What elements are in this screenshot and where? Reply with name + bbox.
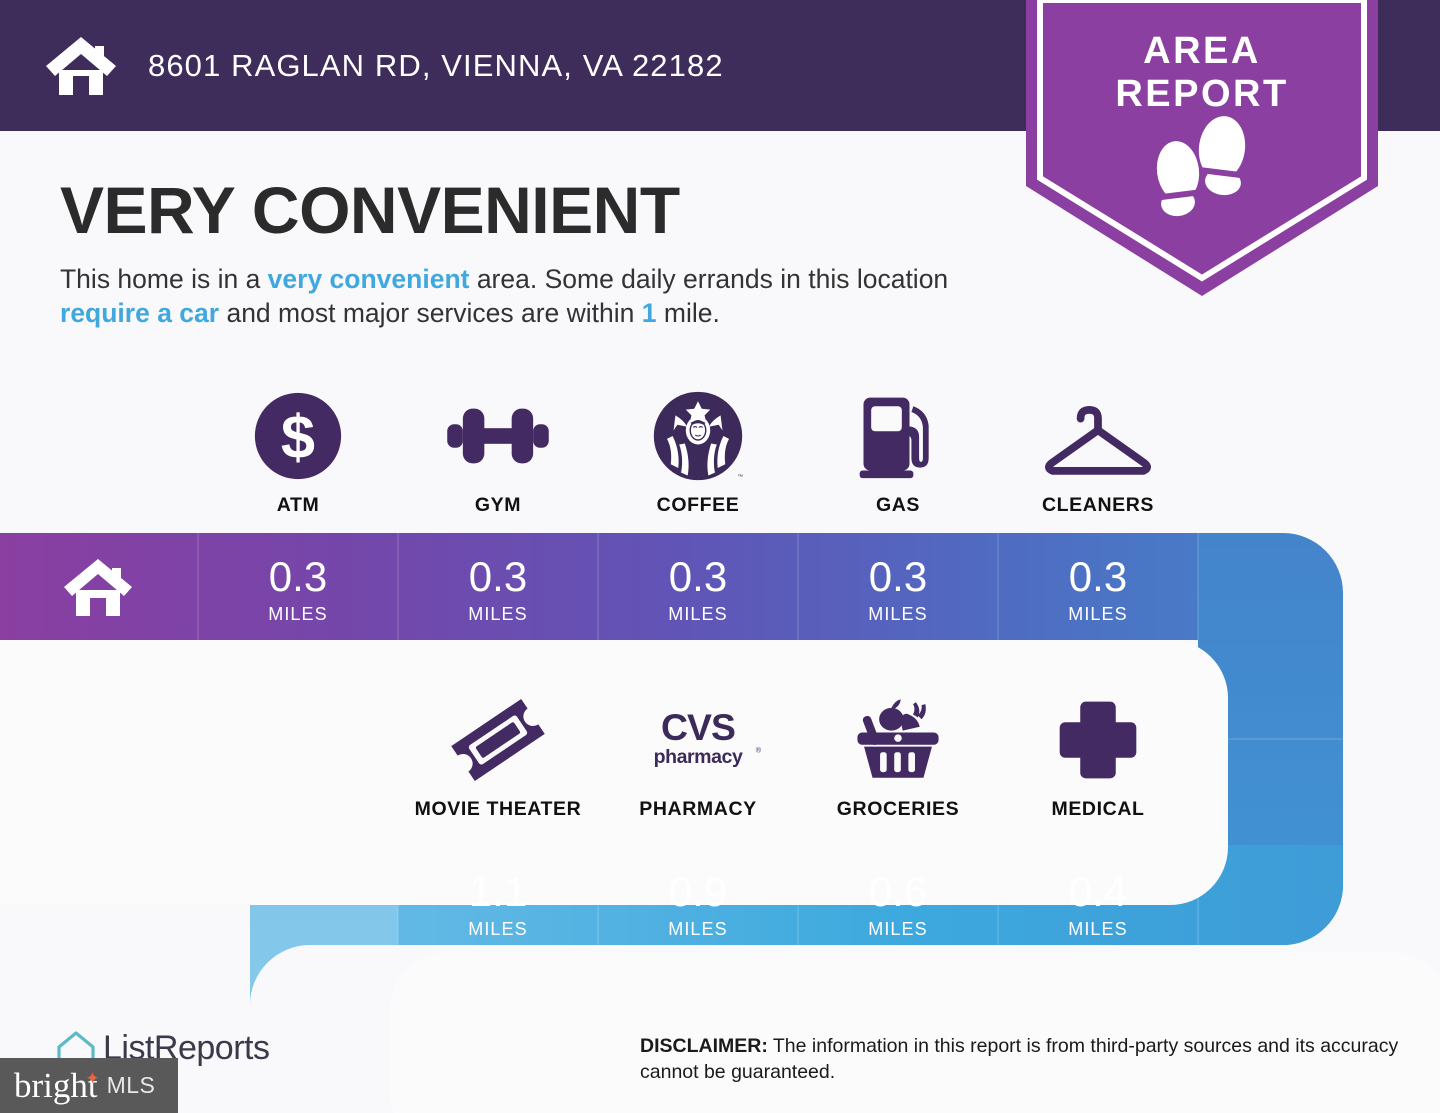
distance-atm: 0.3 MILES (198, 540, 398, 640)
description-text: This home is in a very convenient area. … (60, 263, 1020, 330)
medical-cross-icon (1055, 692, 1141, 788)
svg-text:™: ™ (737, 474, 743, 480)
movie-ticket-icon (448, 692, 548, 788)
category-label: GROCERIES (837, 798, 959, 821)
distance-row-primary: 0.3 MILES 0.3 MILES 0.3 MILES 0.3 MILES … (198, 540, 1198, 640)
clothes-hanger-icon (1038, 388, 1158, 484)
description-fragment: This home is in a (60, 264, 268, 294)
bright-wordmark: bright ✦ (14, 1068, 98, 1103)
grocery-basket-icon (848, 692, 948, 788)
distance-value: 0.9 (669, 871, 727, 913)
svg-text:CVS: CVS (661, 708, 735, 748)
description-highlight: require a car (60, 298, 219, 328)
category-movie-theater[interactable]: MOVIE THEATER (398, 692, 598, 821)
distance-coffee: 0.3 MILES (598, 540, 798, 640)
category-medical[interactable]: MEDICAL (998, 692, 1198, 821)
distance-value: 0.3 (1069, 556, 1127, 598)
category-label: MEDICAL (1051, 798, 1144, 821)
distance-value: 0.3 (469, 556, 527, 598)
dollar-circle-icon: $ (252, 388, 344, 484)
distance-unit: MILES (668, 919, 728, 940)
page-title: VERY CONVENIENT (60, 172, 680, 248)
category-atm[interactable]: $ ATM (198, 388, 398, 517)
distance-pharmacy: 0.9 MILES (598, 855, 798, 955)
distance-value: 0.3 (269, 556, 327, 598)
description-highlight: very convenient (268, 264, 470, 294)
category-label: GAS (876, 494, 920, 517)
description-fragment: area. Some daily errands in this locatio… (469, 264, 948, 294)
distance-movie-theater: 1.1 MILES (398, 855, 598, 955)
property-address: 8601 RAGLAN RD, VIENNA, VA 22182 (148, 48, 724, 84)
area-report-badge: AREA REPORT (1026, 0, 1378, 296)
mls-text: MLS (107, 1072, 156, 1099)
svg-text:®: ® (756, 746, 762, 754)
distance-unit: MILES (868, 604, 928, 625)
distance-value: 0.6 (869, 871, 927, 913)
distance-unit: MILES (1068, 604, 1128, 625)
description-highlight: 1 (642, 298, 657, 328)
category-label: MOVIE THEATER (415, 798, 582, 821)
description-fragment: and most major services are within (219, 298, 642, 328)
home-icon (44, 35, 118, 97)
disclaimer: DISCLAIMER: The information in this repo… (640, 1033, 1400, 1086)
category-coffee[interactable]: ™ COFFEE (598, 388, 798, 517)
category-gas[interactable]: GAS (798, 388, 998, 517)
category-label: ATM (277, 494, 320, 517)
distance-medical: 0.4 MILES (998, 855, 1198, 955)
bright-star-icon: ✦ (85, 1070, 99, 1087)
band-home-icon (62, 556, 134, 618)
distance-value: 0.3 (869, 556, 927, 598)
bright-mls-watermark: bright ✦ MLS (0, 1058, 178, 1113)
icon-row-primary: $ ATM GYM (198, 388, 1198, 517)
distance-unit: MILES (1068, 919, 1128, 940)
description-fragment: mile. (657, 298, 720, 328)
distance-unit: MILES (668, 604, 728, 625)
distance-value: 0.3 (669, 556, 727, 598)
svg-text:pharmacy: pharmacy (654, 746, 743, 768)
category-cleaners[interactable]: CLEANERS (998, 388, 1198, 517)
distance-cleaners: 0.3 MILES (998, 540, 1198, 640)
distance-value: 0.4 (1069, 871, 1127, 913)
category-label: GYM (475, 494, 521, 517)
starbucks-siren-icon: ™ (651, 388, 745, 484)
distance-unit: MILES (868, 919, 928, 940)
gas-pump-icon (850, 388, 946, 484)
category-pharmacy[interactable]: CVS pharmacy ® PHARMACY (598, 692, 798, 821)
distance-unit: MILES (468, 604, 528, 625)
category-label: PHARMACY (639, 798, 756, 821)
distance-groceries: 0.6 MILES (798, 855, 998, 955)
category-label: CLEANERS (1042, 494, 1154, 517)
category-gym[interactable]: GYM (398, 388, 598, 517)
distance-row-secondary: 1.1 MILES 0.9 MILES 0.6 MILES 0.4 MILES (398, 855, 1198, 955)
cvs-pharmacy-icon: CVS pharmacy ® (631, 692, 765, 788)
distance-value: 1.1 (469, 871, 527, 913)
distance-unit: MILES (268, 604, 328, 625)
disclaimer-label: DISCLAIMER: (640, 1035, 768, 1057)
distance-gym: 0.3 MILES (398, 540, 598, 640)
category-label: COFFEE (657, 494, 740, 517)
dumbbell-icon (437, 388, 559, 484)
distance-gas: 0.3 MILES (798, 540, 998, 640)
icon-row-secondary: MOVIE THEATER CVS pharmacy ® PHARMACY (398, 692, 1198, 821)
svg-text:$: $ (281, 402, 315, 471)
category-groceries[interactable]: GROCERIES (798, 692, 998, 821)
distance-unit: MILES (468, 919, 528, 940)
